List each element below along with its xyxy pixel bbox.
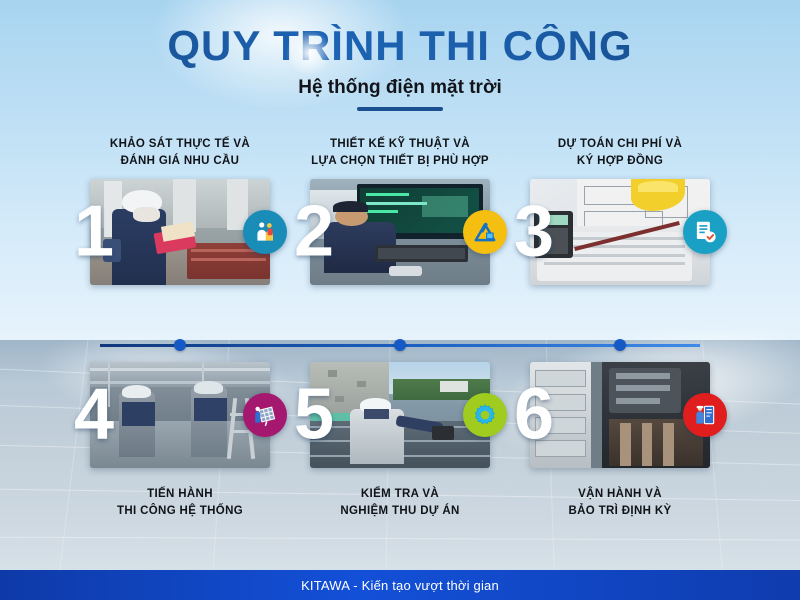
step-number-3: 3	[514, 203, 554, 262]
step-card-5[interactable]: 5 KIỂM TRA VÀ NGHIỆM THU DỰ ÁN	[300, 362, 500, 519]
footer-banner: KITAWA - Kiến tạo vượt thời gian	[0, 570, 800, 600]
page-subtitle: Hệ thống điện mặt trời	[0, 77, 800, 99]
step-number-2: 2	[294, 203, 334, 262]
maintenance-technician-icon	[683, 393, 727, 437]
footer-text: KITAWA - Kiến tạo vượt thời gian	[301, 578, 499, 593]
solar-panel-install-icon	[243, 393, 287, 437]
step-caption-6-line1: VẬN HÀNH VÀ	[520, 486, 720, 503]
step-card-4[interactable]: 4	[80, 362, 280, 519]
step-card-2[interactable]: THIẾT KẾ KỸ THUẬT VÀ LỰA CHỌN THIẾT BỊ P…	[300, 136, 500, 285]
step-card-1[interactable]: KHẢO SÁT THỰC TẾ VÀ ĐÁNH GIÁ NHU CẦU	[80, 136, 280, 285]
step-caption-2: THIẾT KẾ KỸ THUẬT VÀ LỰA CHỌN THIẾT BỊ P…	[300, 136, 500, 169]
step-number-1: 1	[74, 203, 114, 262]
gear-inspection-icon	[463, 393, 507, 437]
page-title: QUY TRÌNH THI CÔNG	[0, 24, 800, 68]
drafting-triangle-icon	[463, 210, 507, 254]
step-number-4: 4	[74, 385, 114, 444]
step-caption-6-line2: BẢO TRÌ ĐỊNH KỲ	[520, 503, 720, 520]
consultation-people-icon	[243, 210, 287, 254]
step-caption-4-line1: TIẾN HÀNH	[80, 486, 280, 503]
step-caption-1: KHẢO SÁT THỰC TẾ VÀ ĐÁNH GIÁ NHU CẦU	[80, 136, 280, 169]
timeline-connector	[100, 339, 700, 351]
step-caption-6: VẬN HÀNH VÀ BẢO TRÌ ĐỊNH KỲ	[520, 486, 720, 519]
step-card-3[interactable]: DỰ TOÁN CHI PHÍ VÀ KÝ HỢP ĐỒNG	[520, 136, 720, 285]
contract-check-icon	[683, 210, 727, 254]
step-caption-1-line2: ĐÁNH GIÁ NHU CẦU	[80, 153, 280, 170]
step-caption-5-line2: NGHIỆM THU DỰ ÁN	[300, 503, 500, 520]
step-caption-2-line1: THIẾT KẾ KỸ THUẬT VÀ	[300, 136, 500, 153]
step-caption-5: KIỂM TRA VÀ NGHIỆM THU DỰ ÁN	[300, 486, 500, 519]
header: QUY TRÌNH THI CÔNG Hệ thống điện mặt trờ…	[0, 24, 800, 111]
connector-dot	[174, 339, 186, 351]
step-caption-1-line1: KHẢO SÁT THỰC TẾ VÀ	[80, 136, 280, 153]
step-caption-4-line2: THI CÔNG HỆ THỐNG	[80, 503, 280, 520]
step-number-6: 6	[514, 385, 554, 444]
step-caption-5-line1: KIỂM TRA VÀ	[300, 486, 500, 503]
step-number-5: 5	[294, 385, 334, 444]
step-caption-3-line1: DỰ TOÁN CHI PHÍ VÀ	[520, 136, 720, 153]
step-caption-3: DỰ TOÁN CHI PHÍ VÀ KÝ HỢP ĐỒNG	[520, 136, 720, 169]
infographic-canvas: QUY TRÌNH THI CÔNG Hệ thống điện mặt trờ…	[0, 0, 800, 600]
step-caption-4: TIẾN HÀNH THI CÔNG HỆ THỐNG	[80, 486, 280, 519]
step-caption-3-line2: KÝ HỢP ĐỒNG	[520, 153, 720, 170]
title-underline	[357, 107, 443, 111]
connector-dot	[394, 339, 406, 351]
connector-dot	[614, 339, 626, 351]
step-card-6[interactable]: 6 VẬN HÀNH VÀ BẢO TRÌ ĐỊNH KỲ	[520, 362, 720, 519]
steps-row-bottom: 4	[0, 362, 800, 519]
steps-row-top: KHẢO SÁT THỰC TẾ VÀ ĐÁNH GIÁ NHU CẦU	[0, 136, 800, 285]
step-caption-2-line2: LỰA CHỌN THIẾT BỊ PHÙ HỢP	[300, 153, 500, 170]
